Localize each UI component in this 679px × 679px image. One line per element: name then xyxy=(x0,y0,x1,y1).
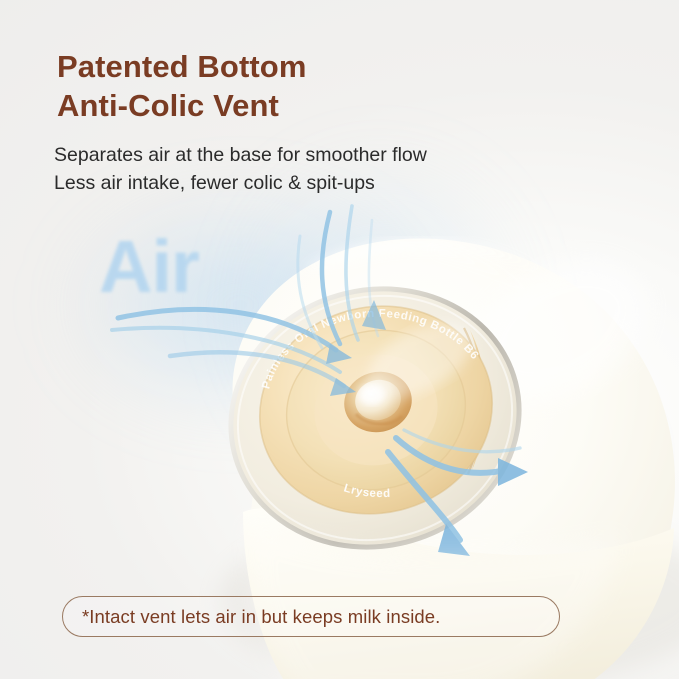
product-feature-image: Painless Oral Newborn Feeding Bottle B6 … xyxy=(0,0,679,679)
subtitle-text: Separates air at the base for smoother f… xyxy=(54,141,427,198)
footnote-text: *Intact vent lets air in but keeps milk … xyxy=(82,606,440,628)
page-title: Patented Bottom Anti-Colic Vent xyxy=(57,47,307,125)
air-label: Air xyxy=(99,224,199,309)
footnote-pill: *Intact vent lets air in but keeps milk … xyxy=(62,596,560,637)
